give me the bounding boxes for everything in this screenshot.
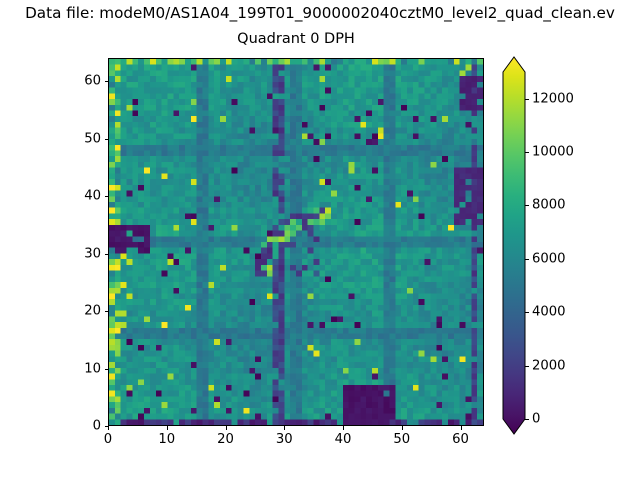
x-tick-label: 60 xyxy=(452,432,469,447)
y-tick-mark xyxy=(105,196,109,197)
colorbar-tick-label: 6000 xyxy=(532,251,566,266)
y-tick-mark xyxy=(105,369,109,370)
colorbar-tick-mark xyxy=(525,312,529,313)
x-tick-label: 50 xyxy=(393,432,410,447)
x-tick-label: 0 xyxy=(104,432,112,447)
x-tick-mark xyxy=(226,426,227,430)
colorbar-tick-label: 0 xyxy=(532,412,540,427)
y-tick-label: 40 xyxy=(84,189,101,204)
colorbar-tick-mark xyxy=(525,99,529,100)
y-tick-mark xyxy=(105,426,109,427)
y-tick-mark xyxy=(105,311,109,312)
x-tick-mark xyxy=(461,426,462,430)
x-tick-mark xyxy=(167,426,168,430)
colorbar-tick-mark xyxy=(525,419,529,420)
x-tick-label: 10 xyxy=(158,432,175,447)
colorbar-tick-label: 4000 xyxy=(532,305,566,320)
colorbar-tick-label: 2000 xyxy=(532,358,566,373)
colorbar-tick-mark xyxy=(525,366,529,367)
y-tick-mark xyxy=(105,81,109,82)
colorbar-body xyxy=(503,57,525,434)
heatmap-axes[interactable] xyxy=(108,58,484,426)
x-tick-mark xyxy=(108,426,109,430)
y-tick-mark xyxy=(105,254,109,255)
colorbar-gradient xyxy=(503,57,525,434)
y-tick-label: 20 xyxy=(84,304,101,319)
colorbar-tick-label: 12000 xyxy=(532,91,574,106)
y-tick-label: 50 xyxy=(84,131,101,146)
y-tick-label: 10 xyxy=(84,361,101,376)
colorbar-tick-label: 10000 xyxy=(532,145,574,160)
figure-suptitle: Data file: modeM0/AS1A04_199T01_90000020… xyxy=(25,4,615,23)
colorbar[interactable] xyxy=(503,57,525,434)
matplotlib-figure: Data file: modeM0/AS1A04_199T01_90000020… xyxy=(0,0,640,480)
colorbar-tick-mark xyxy=(525,152,529,153)
x-tick-mark xyxy=(284,426,285,430)
axes-title: Quadrant 0 DPH xyxy=(237,30,355,49)
colorbar-tick-mark xyxy=(525,259,529,260)
colorbar-tick-mark xyxy=(525,205,529,206)
x-tick-mark xyxy=(343,426,344,430)
y-tick-label: 0 xyxy=(93,419,101,434)
y-tick-label: 30 xyxy=(84,246,101,261)
y-tick-mark xyxy=(105,139,109,140)
heatmap-image[interactable] xyxy=(109,59,483,425)
colorbar-tick-label: 8000 xyxy=(532,198,566,213)
y-tick-label: 60 xyxy=(84,74,101,89)
x-tick-label: 30 xyxy=(276,432,293,447)
x-tick-mark xyxy=(402,426,403,430)
x-tick-label: 20 xyxy=(217,432,234,447)
x-tick-label: 40 xyxy=(335,432,352,447)
